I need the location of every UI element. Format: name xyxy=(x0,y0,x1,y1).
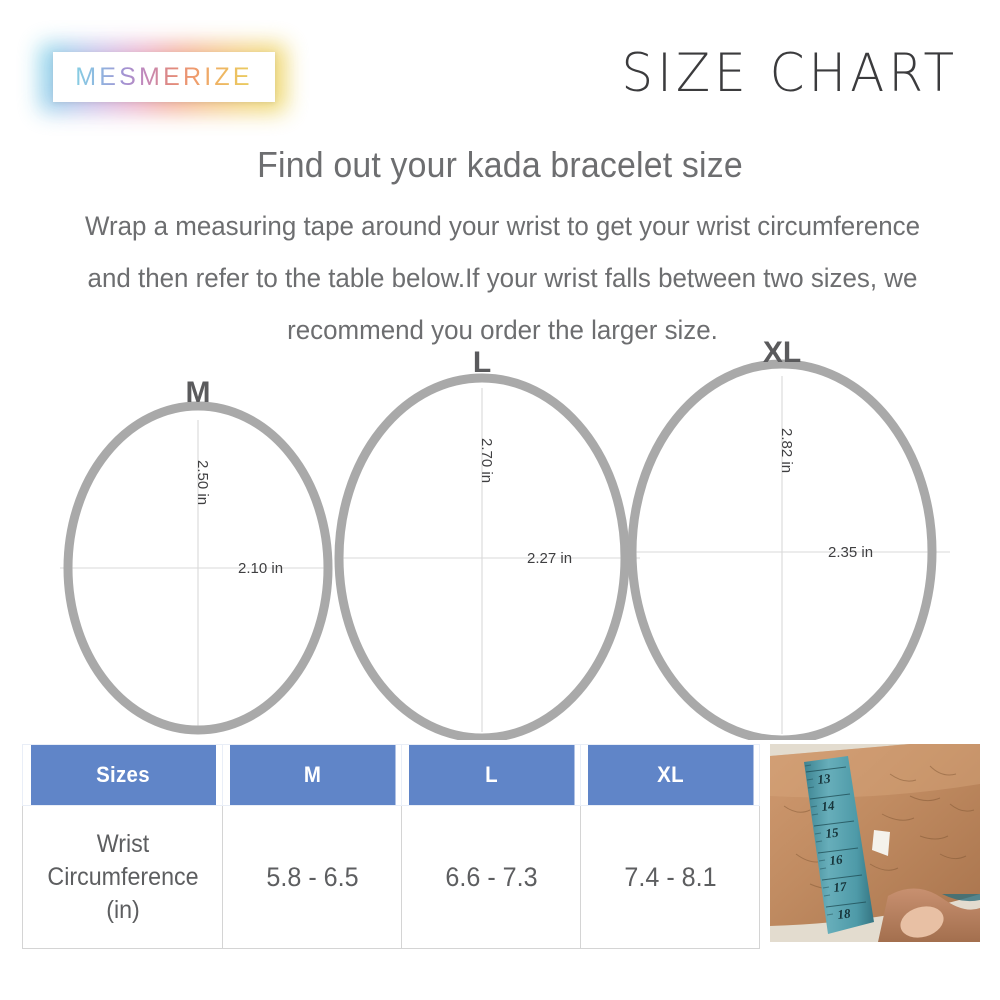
size-table: Sizes M L XL Wrist Circumference (in) 5.… xyxy=(22,744,760,949)
table-header-row: Sizes M L XL xyxy=(23,745,760,806)
row-label-line-1: Wrist xyxy=(34,828,212,861)
wrist-measurement-photo: 13 14 15 16 17 18 xyxy=(770,744,980,942)
oval-height-label-l: 2.70 in xyxy=(478,438,495,483)
logo-wordmark-text: MESMERIZE xyxy=(75,63,252,92)
oval-height-label-xl: 2.82 in xyxy=(778,428,795,473)
cell-wrist-l: 6.6 - 7.3 xyxy=(408,806,574,949)
row-label-line-2: Circumference xyxy=(34,861,212,894)
oval-label-xl: XL xyxy=(763,340,801,369)
instructions-text: Wrap a measuring tape around your wrist … xyxy=(68,200,937,356)
oval-height-label-m: 2.50 in xyxy=(194,460,211,505)
tape-mark-16: 16 xyxy=(829,851,844,868)
oval-width-label-m: 2.10 in xyxy=(238,560,283,577)
oval-label-l: L xyxy=(473,346,491,379)
page-title: SIZE CHART xyxy=(621,42,958,103)
bracelet-size-diagram: M 2.50 in 2.10 in L 2.70 in 2.27 in XL 2… xyxy=(0,340,1000,740)
oval-width-label-xl: 2.35 in xyxy=(828,544,873,561)
oval-group-m: M 2.50 in 2.10 in xyxy=(60,376,330,730)
oval-group-l: L 2.70 in 2.27 in xyxy=(339,346,640,738)
section-heading: Find out your kada bracelet size xyxy=(30,144,970,186)
brand-logo: MESMERIZE xyxy=(40,44,286,112)
table-row: Wrist Circumference (in) 5.8 - 6.5 6.6 -… xyxy=(23,806,760,949)
table-header-xl: XL xyxy=(587,745,753,806)
logo-wordmark: MESMERIZE xyxy=(53,52,275,102)
table-header-l: L xyxy=(408,745,574,806)
tape-mark-15: 15 xyxy=(825,824,840,841)
table-header-m: M xyxy=(229,745,395,806)
tape-mark-14: 14 xyxy=(821,797,836,814)
tape-mark-13: 13 xyxy=(817,770,832,787)
oval-label-m: M xyxy=(186,376,211,409)
oval-group-xl: XL 2.82 in 2.35 in xyxy=(630,340,950,740)
tape-mark-17: 17 xyxy=(833,878,848,895)
cell-wrist-xl: 7.4 - 8.1 xyxy=(587,806,753,949)
cell-wrist-m: 5.8 - 6.5 xyxy=(229,806,395,949)
row-label-line-3: (in) xyxy=(34,894,212,927)
table-header-sizes: Sizes xyxy=(30,745,216,806)
row-label-wrist-circumference: Wrist Circumference (in) xyxy=(30,806,216,949)
oval-width-label-l: 2.27 in xyxy=(527,550,572,567)
tape-mark-18: 18 xyxy=(837,905,852,922)
